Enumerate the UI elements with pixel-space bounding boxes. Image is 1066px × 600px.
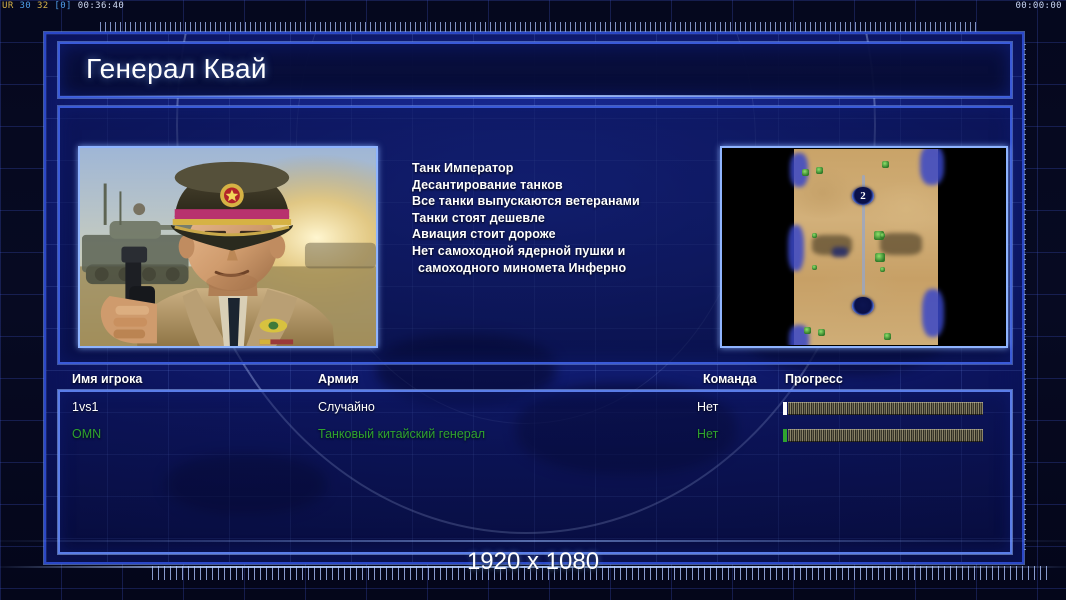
- minimap-prop: [882, 161, 889, 168]
- minimap-prop: [812, 233, 817, 238]
- minimap-terrain-dark: [880, 233, 922, 255]
- players-table: 1vs1 Случайно Нет OMN Танковый китайский…: [58, 390, 1012, 554]
- progress-tick: [783, 402, 787, 415]
- main-panel: Генерал Квай: [44, 32, 1024, 564]
- minimap-prop: [884, 333, 891, 340]
- player-name: OMN: [72, 427, 101, 441]
- column-header-progress: Прогресс: [785, 372, 843, 386]
- minimap-water: [788, 225, 804, 271]
- minimap-prop: [818, 329, 825, 336]
- minimap-start-position-1[interactable]: [852, 297, 874, 315]
- progress-fill: [788, 429, 983, 442]
- player-team[interactable]: Нет: [697, 427, 718, 441]
- desc-line: Авиация стоит дороже: [412, 226, 712, 243]
- minimap-water: [922, 289, 944, 337]
- resolution-label: 1920 x 1080: [0, 548, 1066, 576]
- desc-line: Десантирование танков: [412, 177, 712, 194]
- table-row[interactable]: OMN Танковый китайский генерал Нет: [60, 423, 1010, 448]
- player-progress-bar: [783, 402, 983, 415]
- minimap-terrain-dark: [832, 247, 848, 257]
- minimap-prop: [804, 327, 811, 334]
- desc-line: Нет самоходной ядерной пушки и: [412, 243, 712, 260]
- status-clock-right: 00:00:00: [1015, 0, 1062, 13]
- general-portrait: [80, 148, 376, 347]
- minimap-start-position-2[interactable]: 2: [852, 187, 874, 205]
- column-header-name: Имя игрока: [72, 372, 142, 386]
- page-title: Генерал Квай: [86, 53, 267, 85]
- status-tag: UR: [2, 1, 14, 11]
- minimap-terrain: 2: [794, 149, 938, 345]
- start-position-label: 2: [860, 190, 866, 202]
- title-bar: Генерал Квай: [58, 42, 1012, 98]
- players-table-header: Имя игрока Армия Команда Прогресс: [58, 372, 1012, 390]
- minimap-prop: [880, 233, 885, 238]
- status-bracket: [0]: [54, 1, 71, 11]
- player-progress-bar: [783, 429, 983, 442]
- column-header-army: Армия: [318, 372, 359, 386]
- general-description: Танк Император Десантирование танков Все…: [412, 160, 712, 276]
- minimap-prop: [875, 253, 885, 262]
- minimap-water: [920, 149, 944, 185]
- progress-tick: [783, 429, 787, 442]
- minimap[interactable]: 2: [723, 149, 1005, 345]
- status-clock-left: 00:36:40: [78, 1, 125, 11]
- player-team[interactable]: Нет: [697, 400, 718, 414]
- desc-line: Танк Император: [412, 160, 712, 177]
- desc-line: Танки стоят дешевле: [412, 210, 712, 227]
- player-name: 1vs1: [72, 400, 98, 414]
- desc-line: Все танки выпускаются ветеранами: [412, 193, 712, 210]
- status-left: UR 30 32 [0] 00:36:40: [2, 0, 124, 13]
- status-num1: 30: [19, 1, 31, 11]
- status-num2: 32: [37, 1, 49, 11]
- minimap-prop: [880, 267, 885, 272]
- minimap-prop: [802, 169, 809, 176]
- progress-fill: [788, 402, 983, 415]
- desc-line: самоходного миномета Инферно: [412, 260, 712, 277]
- minimap-prop: [812, 265, 817, 270]
- general-portrait-frame: [78, 146, 378, 348]
- column-header-team: Команда: [703, 372, 757, 386]
- game-screen: UR 30 32 [0] 00:36:40 00:00:00 Генерал К…: [0, 0, 1066, 600]
- minimap-prop: [816, 167, 823, 174]
- player-army[interactable]: Случайно: [318, 400, 375, 414]
- top-status-bar: UR 30 32 [0] 00:36:40 00:00:00: [0, 0, 1066, 13]
- table-row[interactable]: 1vs1 Случайно Нет: [60, 396, 1010, 421]
- bottom-divider-upper: [0, 540, 1066, 542]
- general-info-panel: Танк Император Десантирование танков Все…: [58, 106, 1012, 364]
- minimap-frame[interactable]: 2: [720, 146, 1008, 348]
- player-army[interactable]: Танковый китайский генерал: [318, 427, 485, 441]
